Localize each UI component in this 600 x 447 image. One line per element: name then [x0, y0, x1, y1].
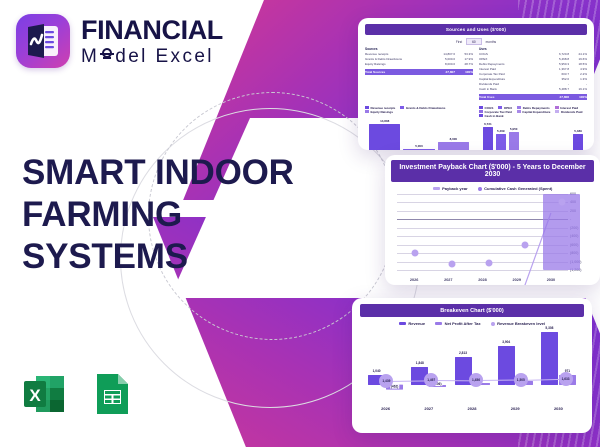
breakeven-bar-groups: 1,040(462)1,848(206)2,813423,9044085,308…: [364, 329, 580, 399]
legend-label-revenue: Revenue: [408, 321, 425, 326]
x-axis-tick-label: 2027: [431, 278, 465, 282]
legend-item-revenue: Revenue: [399, 321, 425, 326]
sources-column: Sources Revenue receipts14,807.653.3%Gra…: [365, 47, 473, 100]
data-point: [558, 199, 565, 206]
bar-label: 8,000: [450, 137, 458, 141]
bar-group: 5,308971: [537, 329, 580, 399]
x-axis-tick-label: 2030: [534, 278, 568, 282]
uses-column: Uses COGS6,720.824.1%OPEX5,468.819.6%Deb…: [479, 47, 587, 100]
google-sheets-icon: [88, 370, 136, 418]
payback-card-title: Investment Payback Chart ($'000) - 5 Yea…: [391, 160, 594, 182]
legend-label: Equity Raisings: [371, 110, 394, 114]
legend-item: Capital Expenditure: [517, 110, 551, 114]
legend-swatch-revenue: [399, 322, 406, 325]
sources-and-uses-card[interactable]: Sources and Uses ($'000) First 60 months…: [358, 18, 594, 150]
sources-bar-chart: Revenue receiptsGrants & Debts Drawdowns…: [365, 103, 473, 151]
brand-title: FINANCIAL: [81, 17, 223, 44]
period-label: First: [456, 40, 462, 44]
gear-o-glyph-icon: [100, 49, 114, 63]
uses-bars: 6,7215,4695,9501,368604352-5,489: [479, 120, 587, 151]
investment-payback-card[interactable]: Investment Payback Chart ($'000) - 5 Yea…: [385, 155, 600, 285]
bar-group: 1,040(462): [364, 329, 407, 399]
x-axis-tick-label: 2029: [494, 406, 537, 411]
legend-swatch-payback: [433, 187, 440, 190]
bar-value-label: 5,308: [544, 326, 554, 330]
data-point: [412, 250, 419, 257]
table-row: Cash in Bank5,488.719.1%: [479, 87, 587, 92]
legend-swatch: [517, 106, 521, 109]
breakeven-marker: 1,633: [559, 372, 573, 386]
payback-line-series: [397, 194, 568, 285]
bar-value-label: 3,904: [501, 340, 511, 344]
legend-swatch: [479, 106, 483, 109]
legend-swatch: [479, 110, 483, 113]
sources-header: Sources: [365, 47, 473, 51]
bar-label: 5,950: [510, 127, 518, 131]
x-axis-tick-label: 2027: [407, 406, 450, 411]
bar-value-label: 1,848: [415, 361, 425, 365]
legend-item: Cash in Bank: [479, 114, 504, 118]
page-title-line: SYSTEMS: [22, 236, 294, 278]
legend-label: Dividends Paid: [561, 110, 583, 114]
legend-swatch-cumulative: [478, 187, 482, 191]
sources-chart-legend: Revenue receiptsGrants & Debts Drawdowns…: [365, 106, 473, 114]
legend-swatch-npat: [435, 322, 442, 325]
legend-label: Grants & Debts Drawdowns: [406, 106, 446, 110]
legend-label-breakeven: Revenue Breakeven level: [497, 321, 545, 326]
legend-label-npat: Net Profit After Tax: [445, 321, 481, 326]
breakeven-marker: 1,505: [514, 373, 528, 387]
total-uses-label: Total Uses: [479, 95, 543, 99]
payback-plot: 20262027202820292030 600400200-(200)(400…: [391, 194, 594, 282]
total-sources-pct: 100%: [455, 70, 473, 74]
legend-item-breakeven-level: Revenue Breakeven level: [491, 321, 546, 326]
x-axis-tick-label: 2026: [364, 406, 407, 411]
legend-swatch: [555, 106, 559, 109]
row-percent: 28.7%: [455, 62, 473, 67]
breakeven-marker: 1,497: [424, 373, 438, 387]
bar: [403, 149, 434, 150]
x-axis-tick-label: 2030: [537, 406, 580, 411]
table-row: Equity Raisings8,000.028.7%: [365, 62, 473, 67]
bar-label: 5,489: [574, 129, 582, 133]
legend-item-cumulative-cash: Cumulative Cash Generated (Spent): [478, 186, 553, 191]
sources-uses-table: Sources Revenue receipts14,807.653.3%Gra…: [365, 47, 587, 100]
legend-label: Cash in Bank: [485, 114, 504, 118]
breakeven-card-title: Breakeven Chart ($'000): [360, 304, 584, 317]
legend-swatch: [517, 110, 521, 113]
period-value[interactable]: 60: [466, 38, 482, 45]
financial-model-logo-icon: [16, 14, 70, 68]
period-unit: months: [486, 40, 496, 44]
bar-item: 5,469: [496, 120, 506, 151]
row-percent: 19.1%: [569, 87, 587, 92]
total-sources-value: 27,807: [429, 70, 455, 74]
bar-item: -: [560, 120, 570, 151]
legend-swatch: [479, 114, 483, 117]
uses-header: Uses: [479, 47, 587, 51]
legend-swatch: [365, 110, 369, 113]
bar-label: 14,808: [380, 119, 389, 123]
bar: [369, 124, 400, 150]
bar-value-label: 2,813: [458, 351, 468, 355]
total-uses-pct: 100%: [569, 95, 587, 99]
bar-item: 5,489: [573, 120, 583, 151]
supported-apps: X: [20, 370, 136, 418]
bar: [438, 142, 469, 151]
bar-item: 1,368: [522, 120, 532, 151]
legend-swatch: [555, 110, 559, 113]
bar-label: 6,721: [484, 122, 492, 126]
bar-item: 5,950: [509, 120, 519, 151]
page-title: SMART INDOORFARMINGSYSTEMS: [22, 152, 294, 278]
legend-swatch-breakeven: [491, 322, 495, 326]
bar: [483, 127, 493, 150]
bar-item: 352: [547, 120, 557, 151]
sources-card-title: Sources and Uses ($'000): [365, 24, 587, 35]
uses-bar-chart: COGSOPEXDebts RepaymentsInterest PaidCor…: [479, 103, 587, 151]
legend-label-cumulative: Cumulative Cash Generated (Spent): [484, 186, 552, 191]
x-axis-tick-label: 2028: [465, 278, 499, 282]
bar-group: 2,81342: [450, 329, 493, 399]
sources-bars: 14,8085,0008,000: [365, 116, 473, 151]
data-point: [448, 260, 455, 267]
legend-item: Grants & Debts Drawdowns: [400, 106, 445, 110]
bar-label: 5,000: [415, 144, 423, 148]
bar-item: 8,000: [438, 116, 469, 151]
payback-legend: Payback year Cumulative Cash Generated (…: [391, 186, 594, 191]
brand-lockup: FINANCIAL Mdel Excel: [16, 14, 223, 68]
row-value: 8,000.0: [429, 62, 455, 67]
bar-label: 5,469: [497, 129, 505, 133]
total-sources-row: Total Sources 27,807 100%: [365, 69, 473, 75]
brand-subtitle-prefix: M: [81, 47, 99, 66]
data-point: [522, 241, 529, 248]
row-label: Cash in Bank: [479, 87, 543, 92]
legend-label-payback: Payback year: [442, 186, 468, 191]
x-axis-tick-label: 2028: [450, 406, 493, 411]
uses-chart-legend: COGSOPEXDebts RepaymentsInterest PaidCor…: [479, 106, 587, 118]
brand-subtitle: Mdel Excel: [81, 47, 223, 66]
breakeven-marker: 1,439: [379, 374, 393, 388]
revenue-bar: 5,308: [541, 332, 558, 385]
brand-subtitle-suffix: del Excel: [115, 47, 214, 66]
breakeven-card[interactable]: Breakeven Chart ($'000) Revenue Net Prof…: [352, 298, 592, 433]
legend-item: Dividends Paid: [555, 110, 582, 114]
bar-item: 6,721: [483, 120, 493, 151]
legend-swatch: [400, 106, 404, 109]
bar-group: 1,848(206): [407, 329, 450, 399]
bar-item: 5,000: [403, 116, 434, 151]
breakeven-x-axis-labels: 20262027202820292030: [364, 406, 580, 411]
payback-x-axis-labels: 20262027202820292030: [397, 278, 568, 282]
row-value: 5,488.7: [543, 87, 569, 92]
total-uses-row: Total Uses 27,808 100%: [479, 94, 587, 100]
row-label: Equity Raisings: [365, 62, 429, 67]
legend-item-npat: Net Profit After Tax: [435, 321, 481, 326]
legend-item-payback-year: Payback year: [433, 186, 468, 191]
bar: [541, 332, 558, 385]
data-point: [485, 260, 492, 267]
sources-period-meta: First 60 months: [365, 38, 587, 45]
total-sources-label: Total Sources: [365, 70, 429, 74]
svg-text:X: X: [29, 386, 41, 405]
bar-item: 604: [535, 120, 545, 151]
legend-label: Capital Expenditure: [522, 110, 550, 114]
total-uses-value: 27,808: [543, 95, 569, 99]
x-axis-tick-label: 2026: [397, 278, 431, 282]
bar: [573, 134, 583, 150]
legend-item: Equity Raisings: [365, 110, 393, 114]
page-title-line: FARMING: [22, 194, 294, 236]
breakeven-marker: 1,456: [469, 373, 483, 387]
microsoft-excel-icon: X: [20, 370, 68, 418]
legend-swatch: [365, 106, 369, 109]
bar-item: 14,808: [369, 116, 400, 151]
x-axis-tick-label: 2029: [500, 278, 534, 282]
bar: [496, 134, 506, 150]
bar: [509, 132, 519, 151]
bar-value-label: 1,040: [372, 369, 382, 373]
breakeven-plot: 1,040(462)1,848(206)2,813423,9044085,308…: [360, 329, 584, 411]
bar-group: 3,904408: [494, 329, 537, 399]
page-title-line: SMART INDOOR: [22, 152, 294, 194]
legend-swatch: [498, 106, 502, 109]
